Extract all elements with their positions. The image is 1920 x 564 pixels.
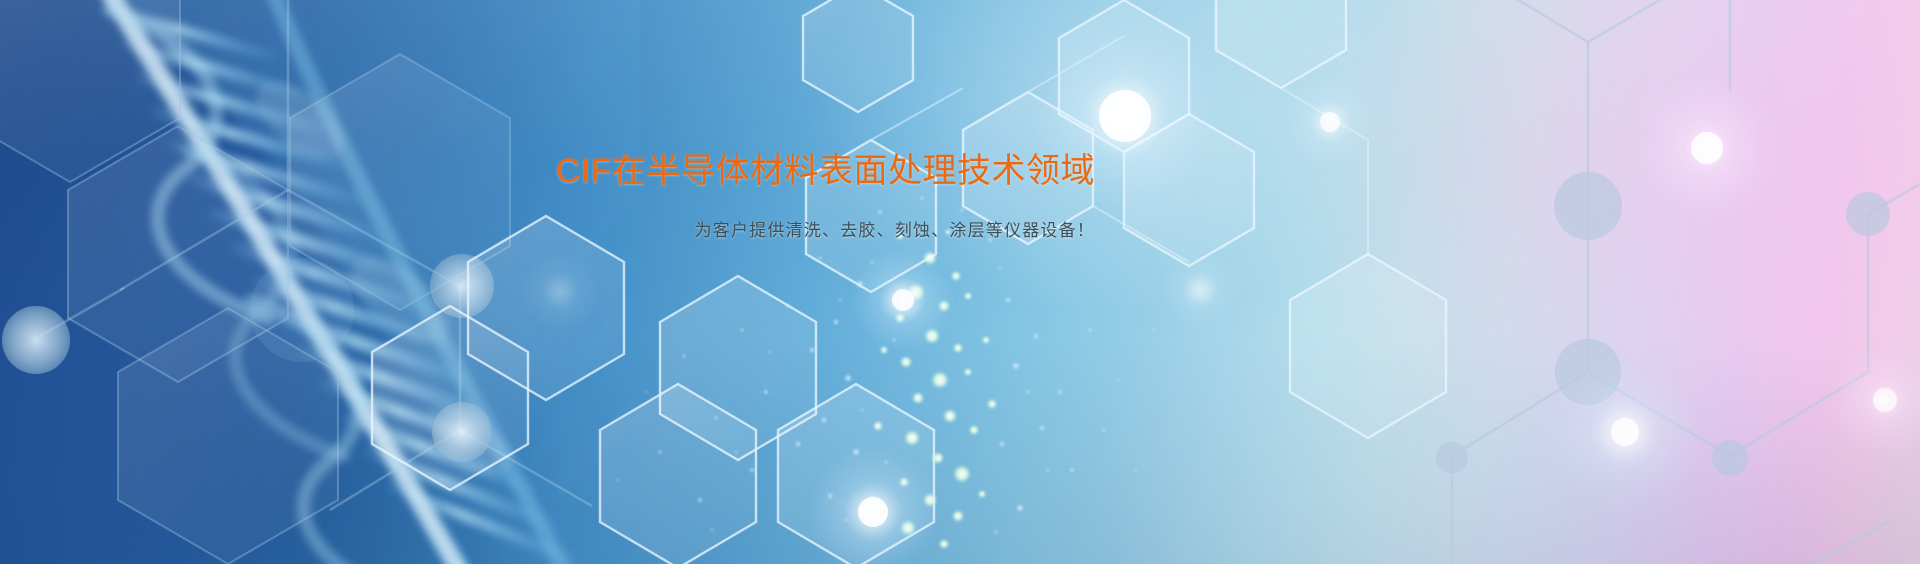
banner-subtitle: 为客户提供清洗、去胶、刻蚀、涂层等仪器设备！ xyxy=(0,219,1095,243)
banner-copy: CIF在半导体材料表面处理技术领域 为客户提供清洗、去胶、刻蚀、涂层等仪器设备！ xyxy=(0,150,1095,242)
page-title: CIF在半导体材料表面处理技术领域 xyxy=(0,150,1095,193)
light-flare-icon xyxy=(0,0,1920,564)
hero-banner: CIF在半导体材料表面处理技术领域 为客户提供清洗、去胶、刻蚀、涂层等仪器设备！ xyxy=(0,0,1920,564)
